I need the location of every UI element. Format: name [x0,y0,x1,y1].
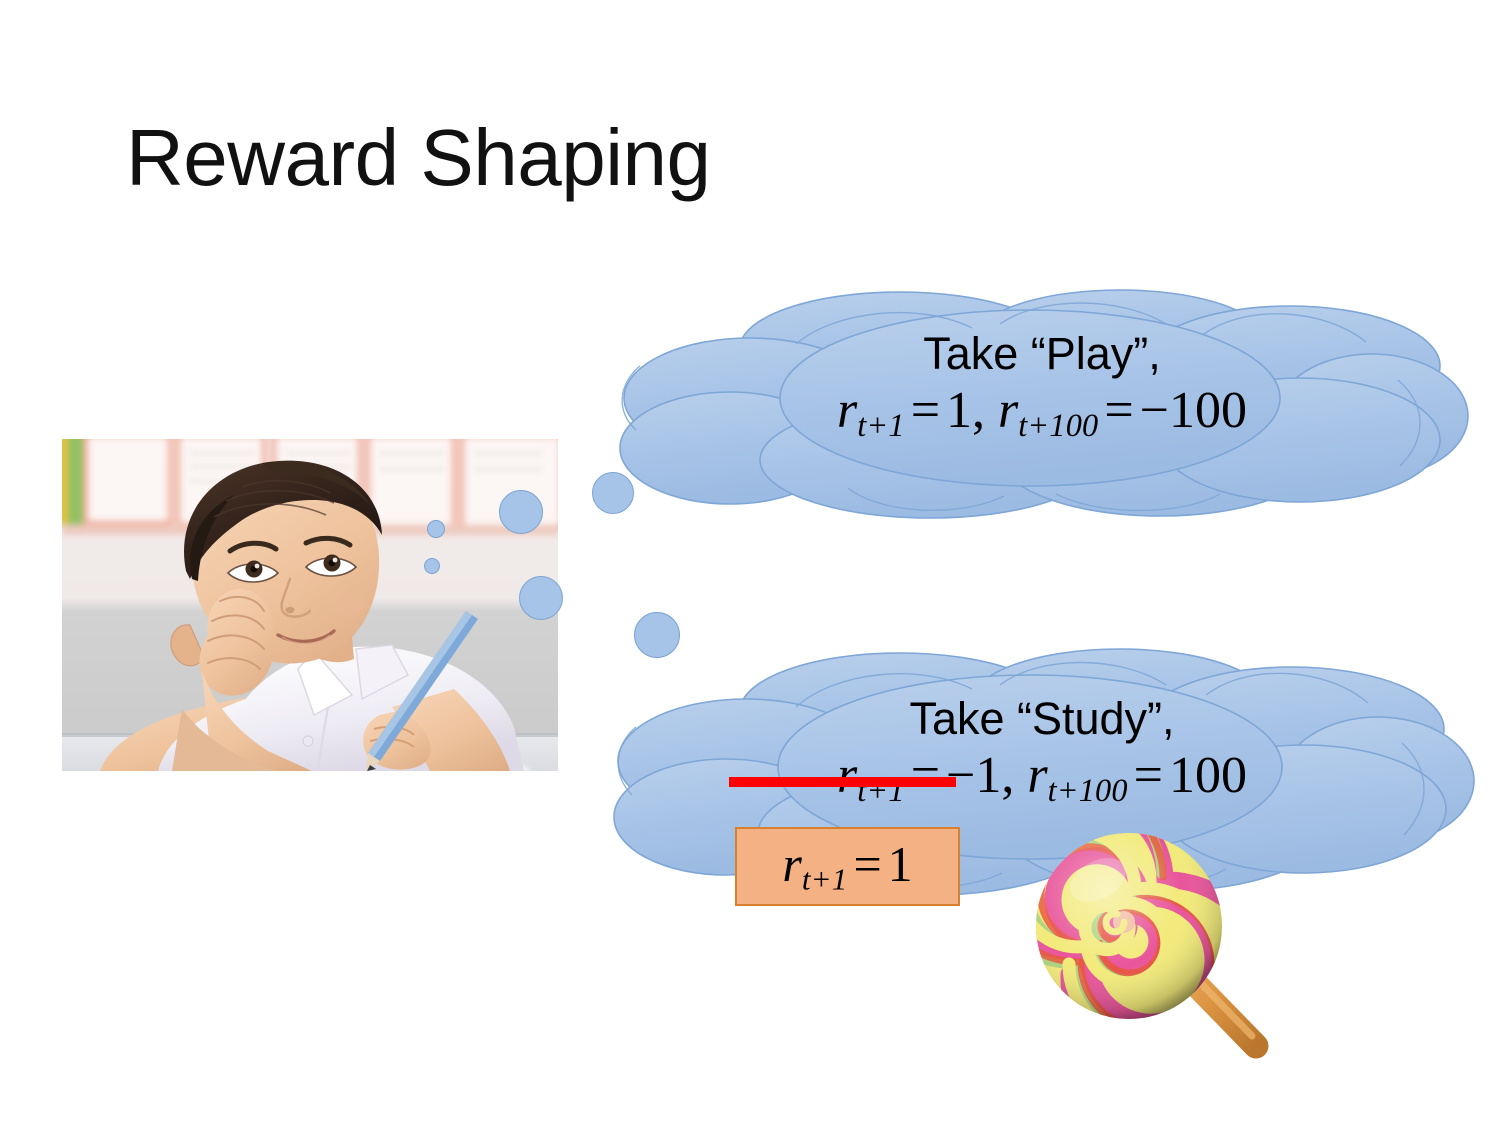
math-value: 1 [888,836,913,892]
thinking-boy-photo [62,439,558,771]
boy-photo-illustration [62,439,558,771]
cloud-shape-play [600,288,1470,520]
reward-callout-box: rt+1=1 [735,827,960,906]
math-var-r: r [782,836,801,892]
slide-canvas: Reward Shaping [0,0,1500,1125]
thought-tail-bubble [424,558,440,574]
thought-tail-bubble [427,520,445,538]
red-strikethrough-line [729,777,956,787]
lollipop-svg [1020,818,1290,1078]
math-sub-t: t+1 [802,862,848,897]
lollipop-icon [1020,818,1290,1078]
math-equals: = [847,836,887,892]
thought-bubble-play: Take “Play”, rt+1=1, rt+100=−100 [600,288,1470,520]
page-title: Reward Shaping [126,118,710,198]
reward-callout-equation: rt+1=1 [782,835,912,898]
thought-tail-bubble [499,490,543,534]
thought-tail-bubble [519,576,563,620]
